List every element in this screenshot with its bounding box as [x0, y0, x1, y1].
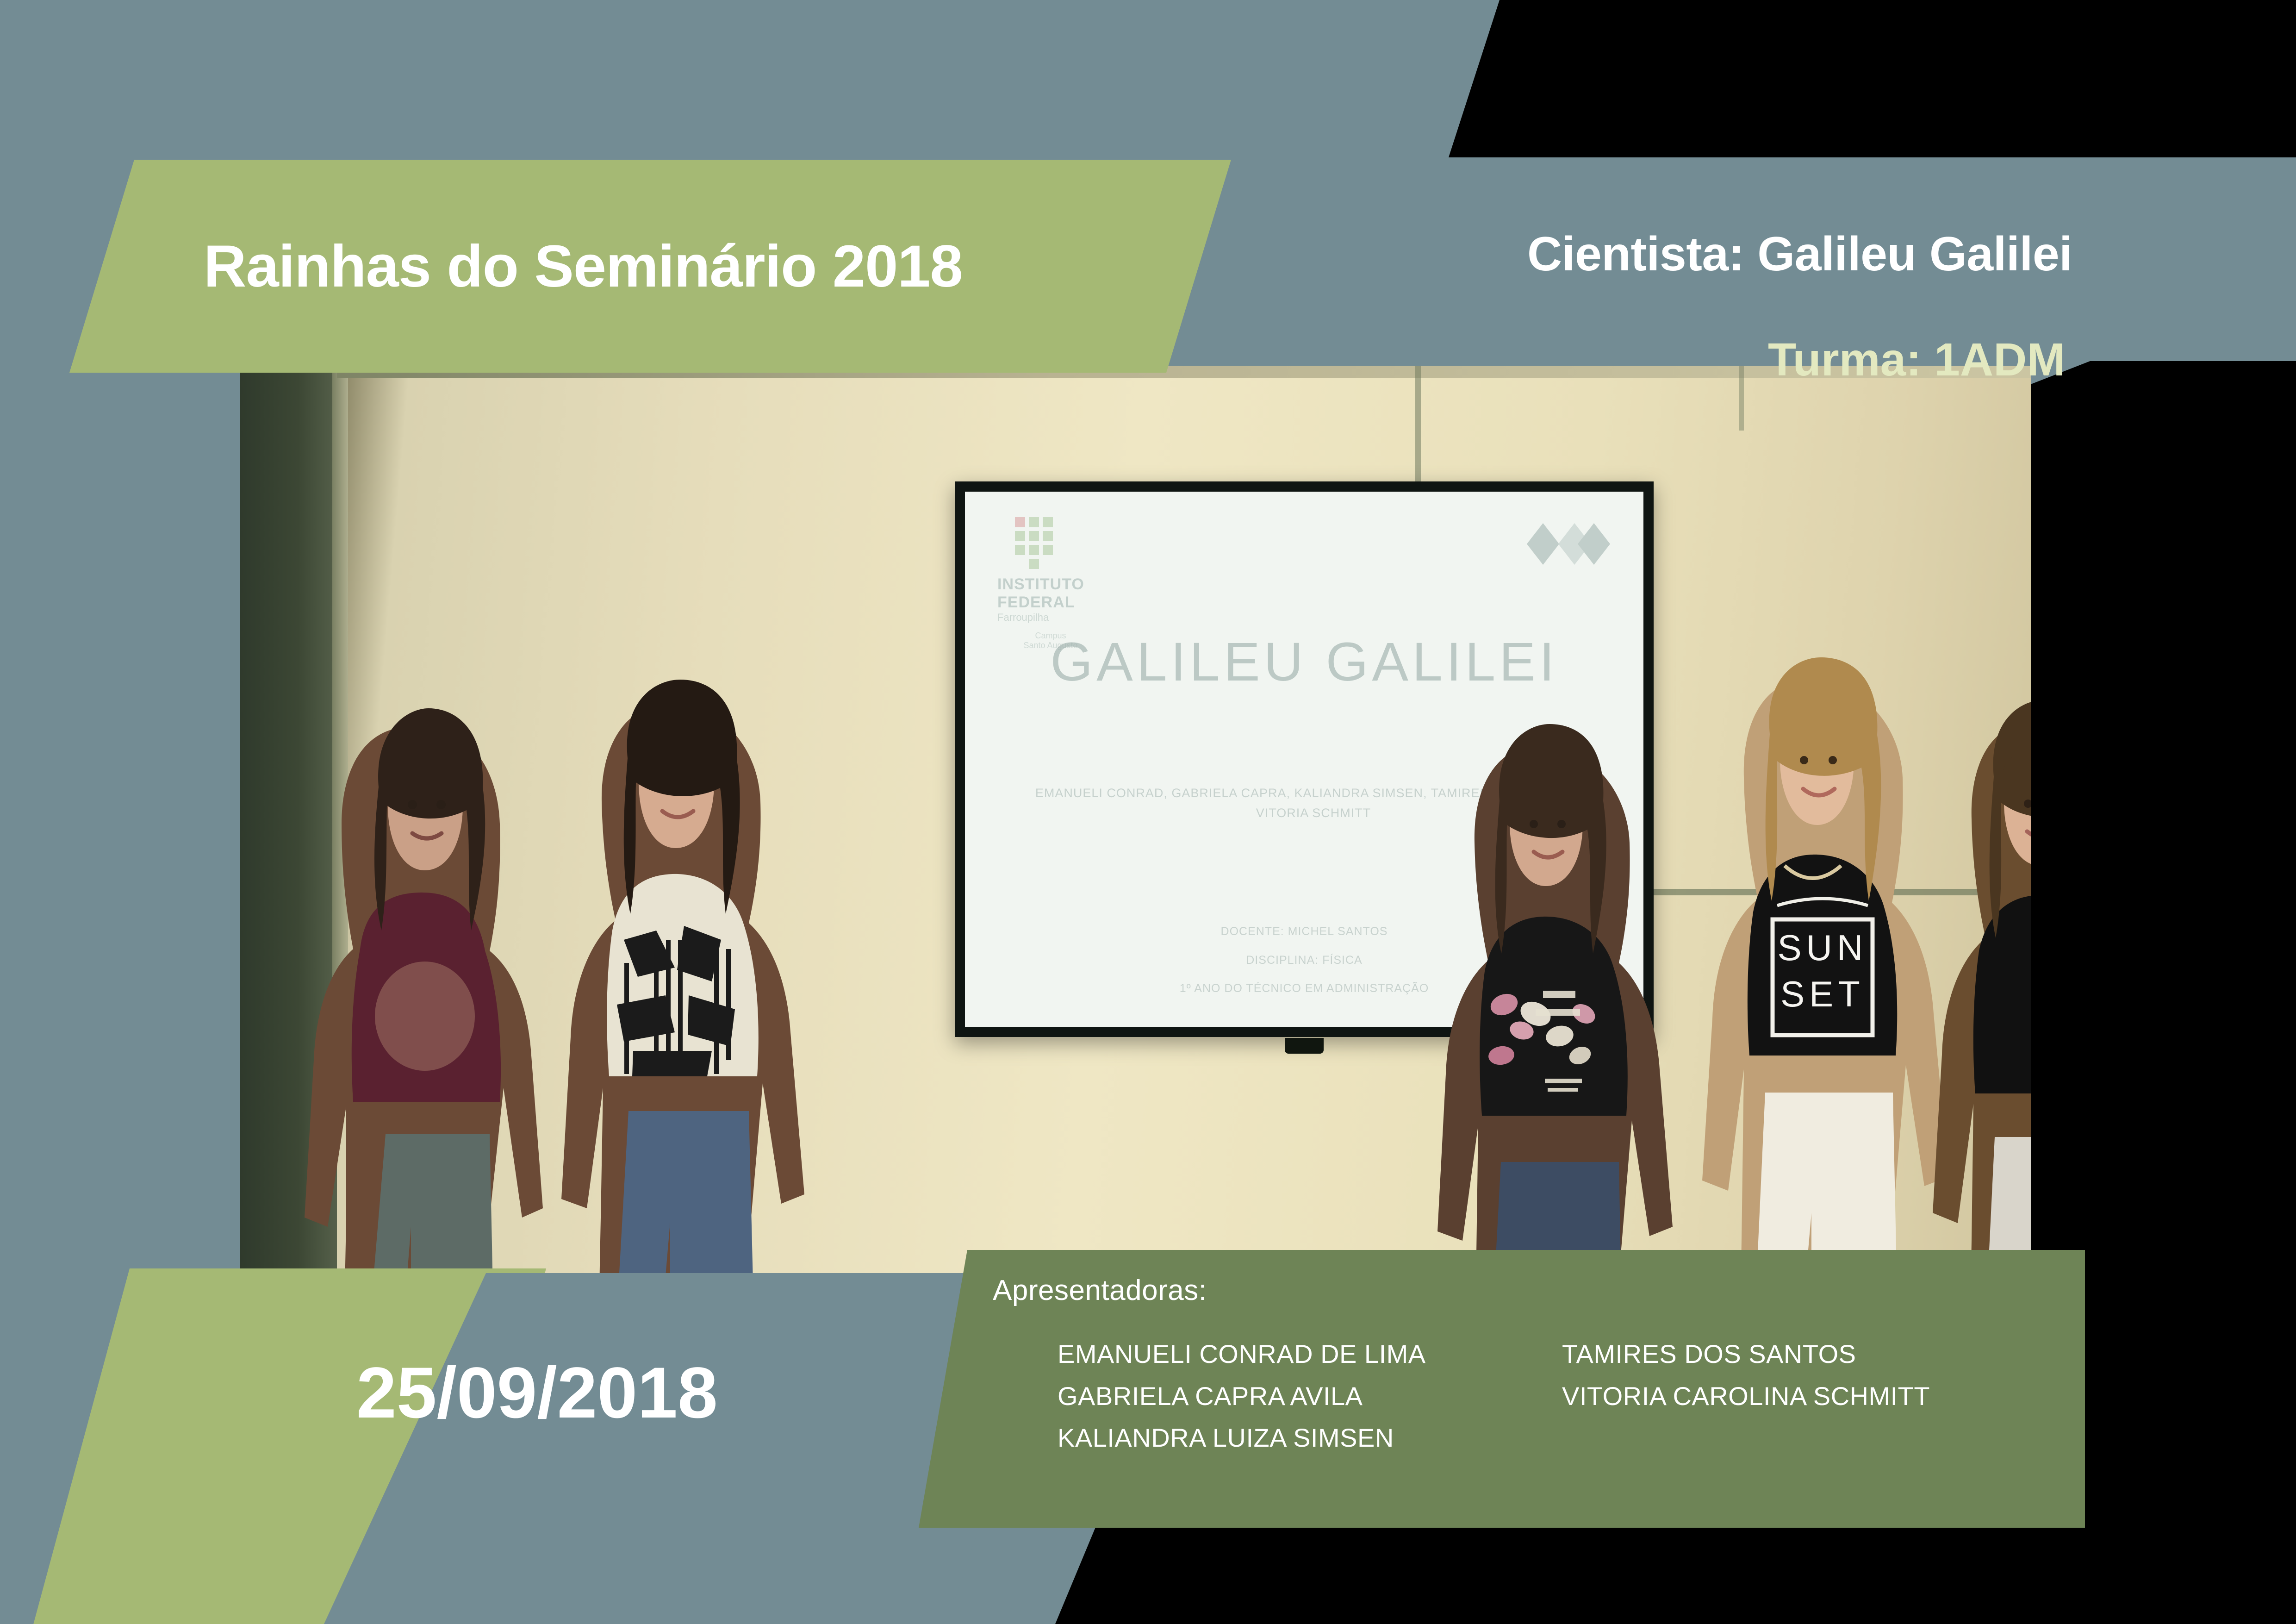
wall-seam-upper: [1739, 366, 1744, 431]
presenter-name: GABRIELA CAPRA AVILA: [1058, 1375, 1562, 1418]
scientist-label: Cientista: Galileu Galilei: [1527, 227, 2072, 282]
poster-canvas: INSTITUTO FEDERAL Farroupilha Campus San…: [0, 0, 2296, 1624]
presenters-label: Apresentadoras:: [993, 1274, 1207, 1307]
svg-text:SET: SET: [1780, 974, 1865, 1014]
page-title: Rainhas do Seminário 2018: [204, 232, 963, 300]
presenter-name: VITORIA CAROLINA SCHMITT: [1562, 1375, 1930, 1418]
logo-line-federal: FEDERAL: [997, 593, 1104, 612]
header-banner: Rainhas do Seminário 2018: [69, 160, 1231, 373]
presenters-column-left: EMANUELI CONRAD DE LIMA GABRIELA CAPRA A…: [1058, 1333, 1562, 1459]
svg-text:SUN: SUN: [1778, 927, 1868, 968]
slide-title: GALILEU GALILEI: [965, 631, 1643, 693]
presenter-name: EMANUELI CONRAD DE LIMA: [1058, 1333, 1562, 1375]
presenters-panel: Apresentadoras: EMANUELI CONRAD DE LIMA …: [919, 1250, 2085, 1528]
logo-grid-icon: [1015, 517, 1104, 569]
presenter-name: KALIANDRA LUIZA SIMSEN: [1058, 1417, 1562, 1459]
black-wedge-top-right: [1435, 0, 2296, 157]
screen-notch: [1285, 1038, 1324, 1054]
presenters-columns: EMANUELI CONRAD DE LIMA GABRIELA CAPRA A…: [1058, 1333, 2057, 1459]
turma-label: Turma: 1ADM: [1768, 333, 2066, 387]
presenter-name: TAMIRES DOS SANTOS: [1562, 1333, 1930, 1375]
logo-line-instituto: INSTITUTO: [997, 575, 1104, 593]
presentation-date: 25/09/2018: [356, 1352, 718, 1435]
presenters-column-right: TAMIRES DOS SANTOS VITORIA CAROLINA SCHM…: [1562, 1333, 1930, 1459]
diamond-mark-icon: [1522, 514, 1615, 574]
logo-line-farroupilha: Farroupilha: [997, 612, 1104, 624]
